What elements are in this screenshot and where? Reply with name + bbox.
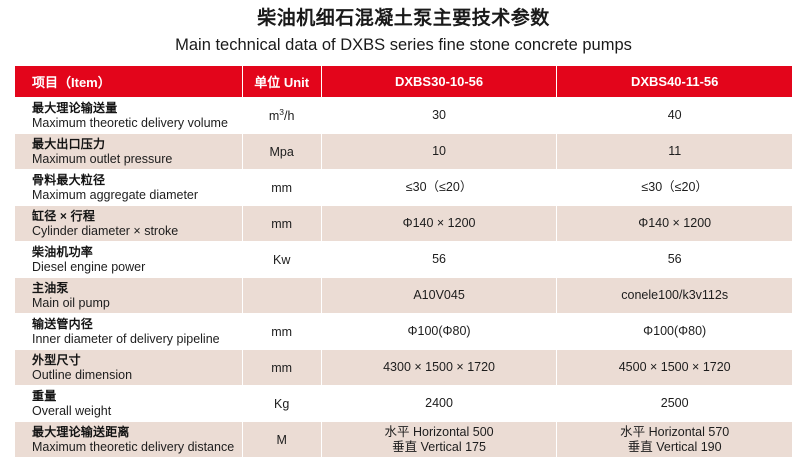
- cell-value-model-1: 水平 Horizontal 500垂直 Vertical 175: [322, 422, 557, 457]
- cell-unit: mm: [243, 350, 321, 385]
- cell-unit: Kw: [243, 242, 321, 277]
- table-row: 输送管内径Inner diameter of delivery pipeline…: [15, 314, 792, 349]
- cell-unit: M: [243, 422, 321, 457]
- cell-unit: mm: [243, 206, 321, 241]
- spec-sheet-page: 柴油机细石混凝土泵主要技术参数 Main technical data of D…: [0, 0, 807, 457]
- table-header-row: 项目（Item） 单位 Unit DXBS30-10-56 DXBS40-11-…: [15, 66, 792, 97]
- cell-value-model-1: ≤30（≤20）: [322, 170, 557, 205]
- item-label-chinese: 主油泵: [32, 281, 242, 295]
- cell-item-name: 最大出口压力Maximum outlet pressure: [15, 134, 242, 169]
- value-line-horizontal: 水平 Horizontal 500: [322, 425, 557, 440]
- table-header: 项目（Item） 单位 Unit DXBS30-10-56 DXBS40-11-…: [15, 66, 792, 97]
- cell-unit: Kg: [243, 386, 321, 421]
- item-label-english: Maximum theoretic delivery volume: [32, 116, 242, 130]
- cell-value-model-2: 水平 Horizontal 570垂直 Vertical 190: [557, 422, 792, 457]
- item-label-chinese: 输送管内径: [32, 317, 242, 331]
- table-row: 最大理论输送量Maximum theoretic delivery volume…: [15, 98, 792, 133]
- table-row: 缸径 × 行程Cylinder diameter × strokemmΦ140 …: [15, 206, 792, 241]
- item-label-chinese: 骨料最大粒径: [32, 173, 242, 187]
- cell-value-model-2: Φ140 × 1200: [557, 206, 792, 241]
- cell-item-name: 骨料最大粒径Maximum aggregate diameter: [15, 170, 242, 205]
- table-row: 主油泵Main oil pumpA10V045conele100/k3v112s: [15, 278, 792, 313]
- table-body: 最大理论输送量Maximum theoretic delivery volume…: [15, 98, 792, 457]
- column-header-model-1: DXBS30-10-56: [322, 66, 557, 97]
- cell-value-model-1: 4300 × 1500 × 1720: [322, 350, 557, 385]
- cell-value-model-1: 30: [322, 98, 557, 133]
- table-row: 柴油机功率Diesel engine powerKw5656: [15, 242, 792, 277]
- item-label-chinese: 最大理论输送距离: [32, 425, 242, 439]
- item-label-english: Cylinder diameter × stroke: [32, 224, 242, 238]
- item-label-english: Main oil pump: [32, 296, 242, 310]
- cell-unit: mm: [243, 314, 321, 349]
- cell-unit: Mpa: [243, 134, 321, 169]
- cell-item-name: 重量Overall weight: [15, 386, 242, 421]
- cell-value-model-2: ≤30（≤20）: [557, 170, 792, 205]
- spec-table-wrapper: 项目（Item） 单位 Unit DXBS30-10-56 DXBS40-11-…: [14, 65, 793, 457]
- cell-item-name: 主油泵Main oil pump: [15, 278, 242, 313]
- table-row: 骨料最大粒径Maximum aggregate diametermm≤30（≤2…: [15, 170, 792, 205]
- item-label-chinese: 重量: [32, 389, 242, 403]
- cell-item-name: 外型尺寸Outline dimension: [15, 350, 242, 385]
- table-row: 外型尺寸Outline dimensionmm4300 × 1500 × 172…: [15, 350, 792, 385]
- cell-unit: m3/h: [243, 98, 321, 133]
- item-label-english: Outline dimension: [32, 368, 242, 382]
- cell-unit: [243, 278, 321, 313]
- cell-value-model-2: 4500 × 1500 × 1720: [557, 350, 792, 385]
- cell-item-name: 缸径 × 行程Cylinder diameter × stroke: [15, 206, 242, 241]
- table-row: 最大理论输送距离Maximum theoretic delivery dista…: [15, 422, 792, 457]
- item-label-chinese: 缸径 × 行程: [32, 209, 242, 223]
- item-label-english: Maximum aggregate diameter: [32, 188, 242, 202]
- cell-item-name: 最大理论输送量Maximum theoretic delivery volume: [15, 98, 242, 133]
- column-header-item: 项目（Item）: [15, 66, 242, 97]
- item-label-english: Maximum outlet pressure: [32, 152, 242, 166]
- item-label-chinese: 最大出口压力: [32, 137, 242, 151]
- cell-item-name: 输送管内径Inner diameter of delivery pipeline: [15, 314, 242, 349]
- cell-value-model-1: 56: [322, 242, 557, 277]
- value-line-horizontal: 水平 Horizontal 570: [557, 425, 792, 440]
- cell-value-model-1: 2400: [322, 386, 557, 421]
- item-label-english: Overall weight: [32, 404, 242, 418]
- item-label-english: Maximum theoretic delivery distance: [32, 440, 242, 454]
- table-row: 重量Overall weightKg24002500: [15, 386, 792, 421]
- page-title-english: Main technical data of DXBS series fine …: [0, 33, 807, 57]
- cell-item-name: 柴油机功率Diesel engine power: [15, 242, 242, 277]
- cell-value-model-2: 56: [557, 242, 792, 277]
- technical-data-table: 项目（Item） 单位 Unit DXBS30-10-56 DXBS40-11-…: [14, 65, 793, 457]
- table-row: 最大出口压力Maximum outlet pressureMpa1011: [15, 134, 792, 169]
- column-header-unit: 单位 Unit: [243, 66, 321, 97]
- cell-value-model-2: 11: [557, 134, 792, 169]
- cell-value-model-1: Φ140 × 1200: [322, 206, 557, 241]
- item-label-chinese: 柴油机功率: [32, 245, 242, 259]
- cell-value-model-1: Φ100(Φ80): [322, 314, 557, 349]
- cell-unit: mm: [243, 170, 321, 205]
- cell-value-model-2: 40: [557, 98, 792, 133]
- value-line-vertical: 垂直 Vertical 175: [322, 440, 557, 455]
- cell-value-model-1: 10: [322, 134, 557, 169]
- cell-value-model-2: Φ100(Φ80): [557, 314, 792, 349]
- cell-value-model-2: conele100/k3v112s: [557, 278, 792, 313]
- cell-value-model-2: 2500: [557, 386, 792, 421]
- value-line-vertical: 垂直 Vertical 190: [557, 440, 792, 455]
- title-block: 柴油机细石混凝土泵主要技术参数 Main technical data of D…: [0, 0, 807, 57]
- page-title-chinese: 柴油机细石混凝土泵主要技术参数: [0, 6, 807, 32]
- item-label-english: Inner diameter of delivery pipeline: [32, 332, 242, 346]
- cell-value-model-1: A10V045: [322, 278, 557, 313]
- item-label-english: Diesel engine power: [32, 260, 242, 274]
- cell-item-name: 最大理论输送距离Maximum theoretic delivery dista…: [15, 422, 242, 457]
- item-label-chinese: 最大理论输送量: [32, 101, 242, 115]
- item-label-chinese: 外型尺寸: [32, 353, 242, 367]
- column-header-model-2: DXBS40-11-56: [557, 66, 792, 97]
